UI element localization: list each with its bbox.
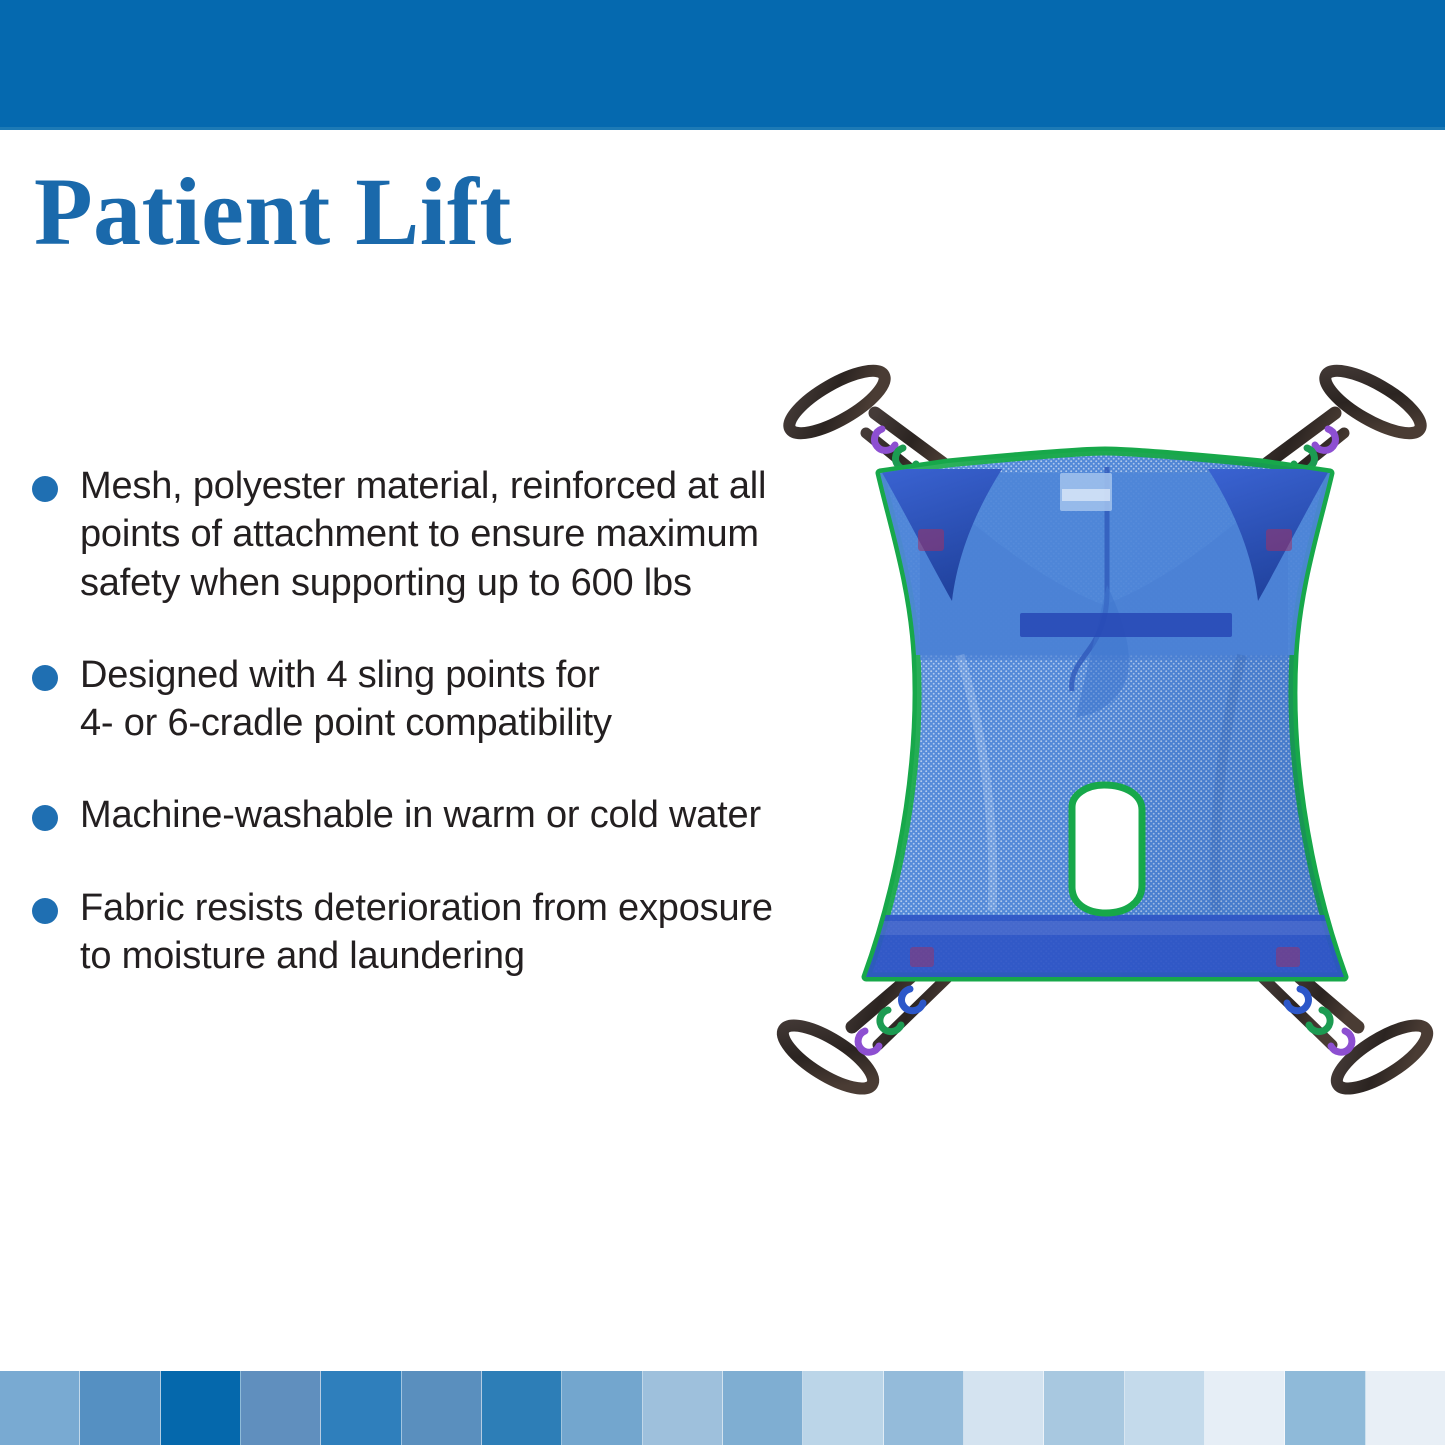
product-image-sling: [770, 355, 1440, 1115]
brand-tag-bottom-right: [1276, 947, 1300, 967]
color-swatch-3: [241, 1371, 321, 1445]
feature-list: Mesh, polyester material, reinforced at …: [28, 462, 888, 980]
commode-opening: [1072, 785, 1142, 913]
color-swatch-13: [1044, 1371, 1124, 1445]
color-swatch-5: [402, 1371, 482, 1445]
color-swatch-strip: [0, 1371, 1445, 1445]
brand-tag-right: [1266, 529, 1292, 551]
color-swatch-10: [803, 1371, 883, 1445]
list-item: Designed with 4 sling points for 4- or 6…: [28, 651, 888, 748]
bullet-dot-icon: [32, 805, 58, 831]
color-swatch-1: [80, 1371, 160, 1445]
color-swatch-8: [643, 1371, 723, 1445]
color-swatch-17: [1366, 1371, 1445, 1445]
feature-text: Machine-washable in warm or cold water: [80, 791, 888, 839]
color-swatch-15: [1205, 1371, 1285, 1445]
color-swatch-6: [482, 1371, 562, 1445]
list-item: Mesh, polyester material, reinforced at …: [28, 462, 888, 607]
color-swatch-14: [1125, 1371, 1205, 1445]
color-swatch-0: [0, 1371, 80, 1445]
color-swatch-4: [321, 1371, 401, 1445]
color-swatch-9: [723, 1371, 803, 1445]
seat-reinforcement-band: [1020, 613, 1232, 637]
list-item: Machine-washable in warm or cold water: [28, 791, 888, 839]
color-swatch-7: [562, 1371, 642, 1445]
top-header-band: [0, 0, 1445, 130]
feature-text: Mesh, polyester material, reinforced at …: [80, 462, 888, 607]
color-swatch-2: [161, 1371, 241, 1445]
color-swatch-11: [884, 1371, 964, 1445]
feature-text: Designed with 4 sling points for 4- or 6…: [80, 651, 888, 748]
strap-loop-bottom-right: [1262, 969, 1436, 1100]
bullet-dot-icon: [32, 665, 58, 691]
bullet-dot-icon: [32, 476, 58, 502]
brand-tag-left: [918, 529, 944, 551]
list-item: Fabric resists deterioration from exposu…: [28, 884, 888, 981]
page-title: Patient Lift: [34, 162, 512, 263]
color-swatch-12: [964, 1371, 1044, 1445]
color-swatch-16: [1285, 1371, 1365, 1445]
sling-body: [770, 355, 1440, 1115]
feature-text: Fabric resists deterioration from exposu…: [80, 884, 888, 981]
bullet-dot-icon: [32, 898, 58, 924]
brand-tag-bottom-left: [910, 947, 934, 967]
strap-loop-bottom-left: [774, 969, 948, 1100]
